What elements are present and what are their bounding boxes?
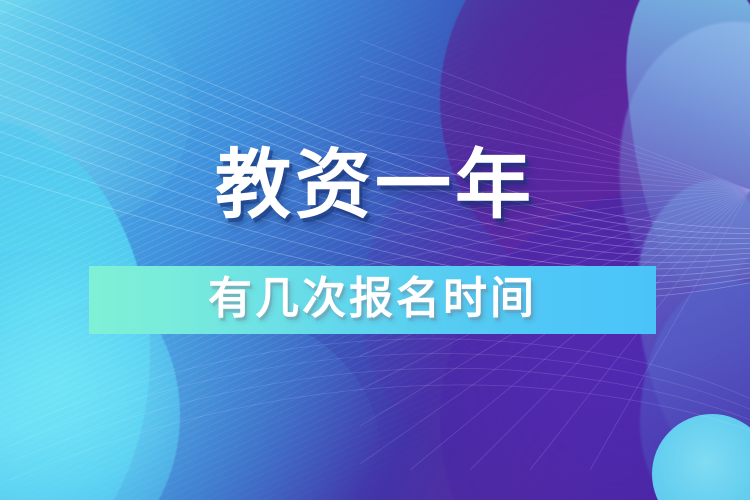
subtitle-banner-bar: 有几次报名时间: [89, 266, 656, 334]
subtitle-text: 有几次报名时间: [208, 277, 537, 321]
promo-banner: 教资一年 有几次报名时间: [0, 0, 750, 500]
page-title: 教资一年: [0, 148, 750, 224]
